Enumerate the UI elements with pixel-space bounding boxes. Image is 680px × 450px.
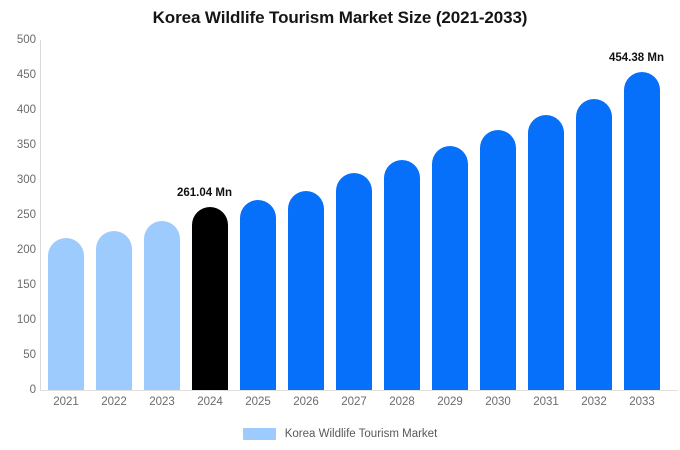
- x-axis-tick: 2028: [384, 396, 420, 408]
- legend-label: Korea Wildlife Tourism Market: [285, 428, 438, 440]
- x-axis-tick: 2033: [624, 396, 660, 408]
- x-axis-tick: 2024: [192, 396, 228, 408]
- x-axis-tick: 2032: [576, 396, 612, 408]
- x-axis-tick: 2026: [288, 396, 324, 408]
- bar-chart: Korea Wildlife Tourism Market Size (2021…: [0, 0, 680, 450]
- x-axis-tick: 2031: [528, 396, 564, 408]
- data-label-2033: 454.38 Mn: [609, 52, 664, 64]
- x-axis-tick: 2027: [336, 396, 372, 408]
- x-axis-tick-labels: 2021202220232024202520262027202820292030…: [0, 0, 680, 450]
- x-axis-tick: 2029: [432, 396, 468, 408]
- x-axis-tick: 2021: [48, 396, 84, 408]
- legend-swatch-icon: [243, 428, 276, 440]
- data-label-2024: 261.04 Mn: [177, 187, 232, 199]
- chart-legend: Korea Wildlife Tourism Market: [0, 428, 680, 440]
- x-axis-tick: 2022: [96, 396, 132, 408]
- x-axis-tick: 2025: [240, 396, 276, 408]
- legend-item[interactable]: Korea Wildlife Tourism Market: [243, 428, 438, 440]
- x-axis-tick: 2023: [144, 396, 180, 408]
- x-axis-tick: 2030: [480, 396, 516, 408]
